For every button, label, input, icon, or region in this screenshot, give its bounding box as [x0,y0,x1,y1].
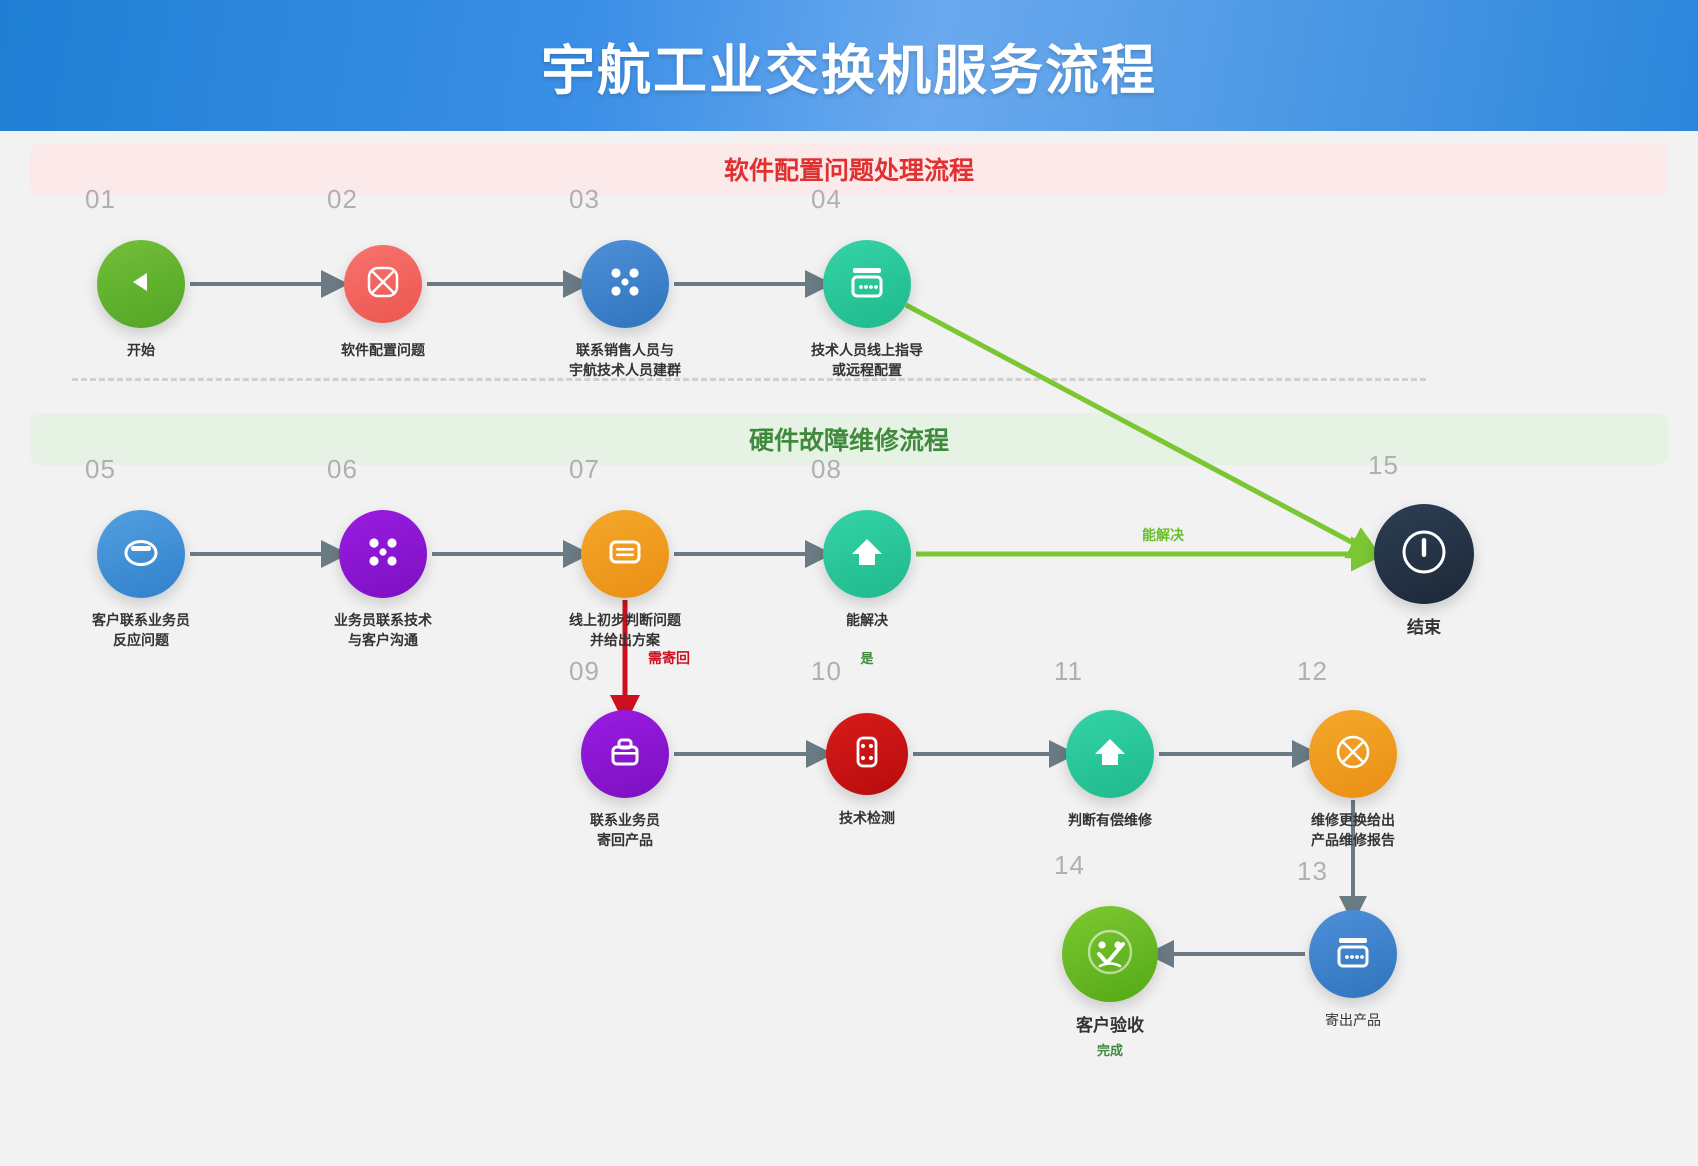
node-label-09: 联系业务员 寄回产品 [505,810,745,851]
node-label-08: 能解决 [747,610,987,630]
node-number-07: 07 [569,454,600,485]
section-header-software: 软件配置问题处理流程 [30,143,1668,195]
node-label-06: 业务员联系技术 与客户沟通 [263,610,503,651]
section-header-hardware: 硬件故障维修流程 [30,413,1668,465]
edge-label-can-resolve: 能解决 [1142,525,1184,545]
node-circle-15[interactable] [1374,504,1474,604]
server-card-icon [845,260,889,309]
node-label-13: 寄出产品 [1233,1010,1473,1030]
node-circle-14[interactable] [1062,906,1158,1002]
five-dots-icon [603,260,647,309]
node-circle-04[interactable] [823,240,911,328]
node-number-04: 04 [811,184,842,215]
section-label-hardware: 硬件故障维修流程 [749,421,949,457]
node-number-01: 01 [85,184,116,215]
list-lines-icon [603,530,647,579]
node-number-02: 02 [327,184,358,215]
node-number-10: 10 [811,656,842,687]
node-number-08: 08 [811,454,842,485]
node-label-03: 联系销售人员与 宇航技术人员建群 [505,340,745,381]
node-circle-11[interactable] [1066,710,1154,798]
node-label-14: 客户验收 [990,1014,1230,1039]
node-circle-02[interactable] [344,245,422,323]
node-circle-09[interactable] [581,710,669,798]
page-title: 宇航工业交换机服务流程 [541,26,1157,105]
check-face-icon [1081,923,1139,986]
node-number-05: 05 [85,454,116,485]
node-label-15: 结束 [1304,616,1544,641]
node-sublabel-14: 完成 [1030,1040,1190,1059]
package-box-icon [603,730,647,779]
node-circle-06[interactable] [339,510,427,598]
node-circle-07[interactable] [581,510,669,598]
node-label-12: 维修更换给出 产品维修报告 [1233,810,1473,851]
node-circle-05[interactable] [97,510,185,598]
edge-label-need-return: 需寄回 [648,648,690,668]
node-circle-13[interactable] [1309,910,1397,998]
x-circle-icon [363,262,403,307]
node-number-09: 09 [569,656,600,687]
node-circle-10[interactable] [826,713,908,795]
node-label-11: 判断有偿维修 [990,810,1230,830]
section-label-software: 软件配置问题处理流程 [724,151,974,187]
node-number-14: 14 [1054,850,1085,881]
node-circle-03[interactable] [581,240,669,328]
node-label-07: 线上初步判断问题 并给出方案 [505,610,745,651]
node-label-02: 软件配置问题 [263,340,503,360]
node-circle-08[interactable] [823,510,911,598]
up-arrow-home-icon [1089,731,1131,778]
power-circle-icon [1396,524,1452,585]
node-label-10: 技术检测 [747,808,987,828]
four-dots-dice-icon [847,732,887,777]
node-number-03: 03 [569,184,600,215]
page-header: 宇航工业交换机服务流程 [0,0,1698,131]
node-number-13: 13 [1297,856,1328,887]
x-circle-icon [1330,729,1376,780]
node-label-05: 客户联系业务员 反应问题 [21,610,261,651]
node-label-01: 开始 [21,340,261,360]
node-label-04: 技术人员线上指导 或远程配置 [747,340,987,381]
node-circle-01[interactable] [97,240,185,328]
node-number-06: 06 [327,454,358,485]
flowchart-canvas: 宇航工业交换机服务流程 软件配置问题处理流程 硬件故障维修流程 [0,0,1698,1166]
node-number-11: 11 [1054,656,1083,687]
up-arrow-home-icon [846,531,888,578]
play-triangle-icon [124,265,158,304]
server-card-icon [1331,930,1375,979]
oval-stack-icon [119,530,163,579]
node-number-15: 15 [1368,450,1399,481]
node-number-12: 12 [1297,656,1328,687]
five-dots-icon [361,530,405,579]
node-circle-12[interactable] [1309,710,1397,798]
